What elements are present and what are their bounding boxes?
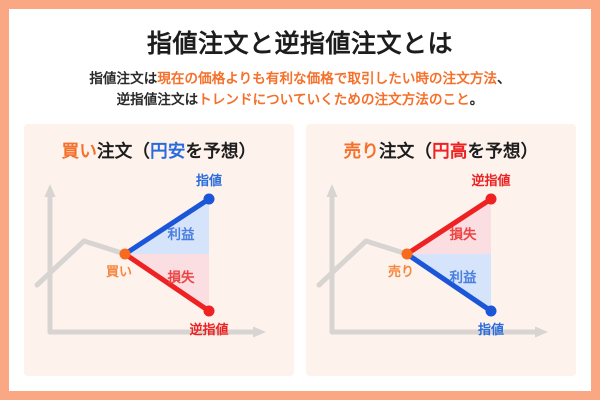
label-limit-sell: 指値 [478, 322, 504, 337]
page-title: 指値注文と逆指値注文とは [9, 29, 591, 59]
panel-sell-title: 売り注文（円高を予想） [306, 138, 576, 163]
entry-point-sell [402, 249, 413, 260]
infographic-frame: 指値注文と逆指値注文とは 指値注文は現在の価格よりも有利な価格で取引したい時の注… [0, 0, 600, 400]
stop-point-sell [486, 194, 497, 205]
panel-sell-title-emphasis: 売り [344, 141, 379, 161]
stop-point-buy [204, 306, 215, 317]
limit-point-sell [486, 306, 497, 317]
header: 指値注文と逆指値注文とは 指値注文は現在の価格よりも有利な価格で取引したい時の注… [9, 9, 591, 111]
subtitle-line-1-lead: 指値注文は [89, 71, 157, 86]
chart-sell-order: 逆指値 指値 売り 損失 利益 [306, 172, 576, 376]
panels-container: 買い注文（円安を予想） [24, 124, 576, 376]
label-loss-area-buy: 損失 [168, 269, 195, 285]
panel-sell-title-middle: 注文（ [379, 141, 432, 161]
entry-point-buy [120, 249, 131, 260]
panel-buy-title-middle: 注文（ [97, 141, 150, 161]
subtitle: 指値注文は現在の価格よりも有利な価格で取引したい時の注文方法、 逆指値注文はトレ… [9, 69, 591, 111]
label-stop-buy: 逆指値 [189, 322, 228, 337]
subtitle-line-2-highlight: トレンドについていくための注文方法のこと [198, 92, 470, 107]
limit-point-buy [204, 194, 215, 205]
label-stop-sell: 逆指値 [471, 173, 510, 188]
label-profit-area-buy: 利益 [168, 226, 195, 242]
panel-sell-title-forecast: 円高 [432, 141, 467, 161]
label-entry-sell: 売り [388, 264, 414, 279]
label-loss-area-sell: 損失 [450, 226, 477, 242]
panel-buy-title: 買い注文（円安を予想） [24, 138, 294, 163]
subtitle-line-1-tail: 、 [497, 71, 511, 86]
subtitle-line-2-lead: 逆指値注文は [117, 92, 199, 107]
label-entry-buy: 買い [106, 264, 132, 279]
chart-buy-order: 指値 逆指値 買い 利益 損失 [24, 172, 294, 376]
panel-sell-order: 売り注文（円高を予想） [306, 124, 576, 376]
panel-buy-title-tail: を予想） [186, 141, 257, 161]
panel-buy-title-forecast: 円安 [150, 141, 185, 161]
subtitle-line-2-tail: 。 [470, 92, 484, 107]
panel-sell-title-tail: を予想） [468, 141, 539, 161]
label-profit-area-sell: 利益 [450, 269, 477, 285]
subtitle-line-1: 指値注文は現在の価格よりも有利な価格で取引したい時の注文方法、 [9, 69, 591, 90]
subtitle-line-1-highlight: 現在の価格よりも有利な価格で取引したい時の注文方法 [157, 71, 497, 86]
panel-buy-title-emphasis: 買い [62, 141, 97, 161]
panel-buy-order: 買い注文（円安を予想） [24, 124, 294, 376]
subtitle-line-2: 逆指値注文はトレンドについていくための注文方法のこと。 [9, 90, 591, 111]
label-limit-buy: 指値 [196, 173, 222, 188]
